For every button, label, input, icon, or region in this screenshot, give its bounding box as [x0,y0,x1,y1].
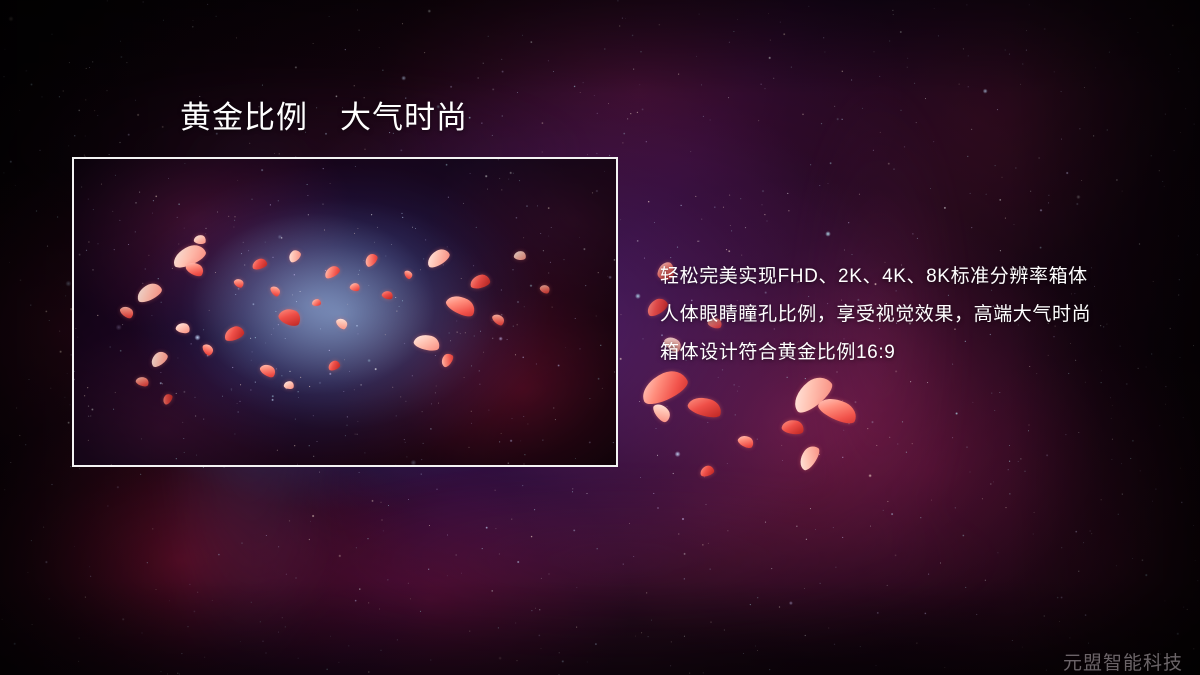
body-line-3: 箱体设计符合黄金比例16:9 [660,334,1180,372]
presentation-slide: 黄金比例 大气时尚 轻松完美实现FHD、2K、4K、8K标准分辨率箱体 人体眼睛… [0,0,1200,675]
body-line-2: 人体眼睛瞳孔比例，享受视觉效果，高端大气时尚 [660,296,1180,334]
framed-photo [72,157,618,467]
body-line-1: 轻松完美实现FHD、2K、4K、8K标准分辨率箱体 [660,258,1180,296]
photo-vignette [74,159,616,465]
watermark-text: 元盟智能科技 [1063,648,1183,675]
page-title: 黄金比例 大气时尚 [180,101,468,135]
body-text-block: 轻松完美实现FHD、2K、4K、8K标准分辨率箱体 人体眼睛瞳孔比例，享受视觉效… [660,258,1180,372]
